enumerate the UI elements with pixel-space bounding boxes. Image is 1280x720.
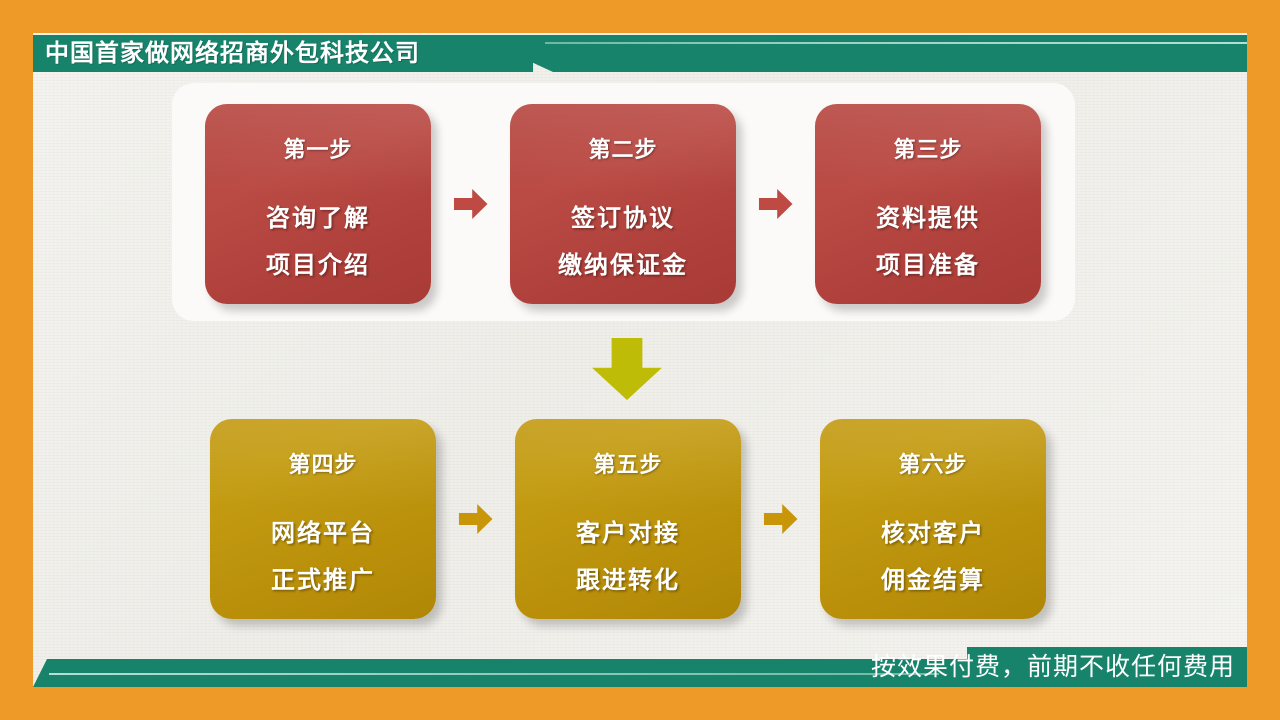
step-card-5-heading: 第五步	[593, 447, 662, 479]
arrow-right-icon-bottom-2	[741, 419, 820, 619]
step-card-1-body: 咨询了解 项目介绍	[266, 198, 370, 280]
step-card-4-body: 网络平台 正式推广	[271, 513, 375, 595]
step-card-5-line-2: 跟进转化	[576, 560, 680, 595]
step-card-6-body: 核对客户 佣金结算	[881, 513, 985, 595]
arrow-right-icon-bottom-1	[436, 419, 515, 619]
footer-tagline: 按效果付费，前期不收任何费用	[871, 650, 1235, 684]
arrow-right-glyph	[454, 189, 488, 219]
step-card-5-body: 客户对接 跟进转化	[576, 513, 680, 595]
step-card-1-line-2: 项目介绍	[266, 245, 370, 280]
step-card-4-line-1: 网络平台	[271, 513, 375, 548]
step-card-1-line-1: 咨询了解	[266, 198, 370, 233]
step-card-6[interactable]: 第六步 核对客户 佣金结算	[820, 419, 1046, 619]
arrow-right-icon-top-2	[736, 104, 815, 304]
step-card-1[interactable]: 第一步 咨询了解 项目介绍	[205, 104, 431, 304]
slide-canvas: 中国首家做网络招商外包科技公司 第一步 咨询了解 项目介绍 第二步 签订协议 缴…	[0, 0, 1280, 720]
arrow-down-icon-row-link	[592, 338, 662, 400]
step-card-5-line-1: 客户对接	[576, 513, 680, 548]
page-title: 中国首家做网络招商外包科技公司	[45, 36, 420, 72]
arrow-down-glyph	[592, 338, 662, 400]
step-card-2-heading: 第二步	[588, 132, 657, 164]
arrow-right-glyph	[459, 504, 493, 534]
flow-row-top: 第一步 咨询了解 项目介绍 第二步 签订协议 缴纳保证金 第三步 资料提供	[205, 104, 1041, 304]
step-card-4-heading: 第四步	[288, 447, 357, 479]
arrow-right-glyph	[764, 504, 798, 534]
step-card-2-line-2: 缴纳保证金	[558, 245, 688, 280]
header-banner-rule	[545, 42, 1247, 44]
step-card-3-body: 资料提供 项目准备	[876, 198, 980, 280]
step-card-3-heading: 第三步	[893, 132, 962, 164]
arrow-right-icon-top-1	[431, 104, 510, 304]
step-card-2-line-1: 签订协议	[571, 198, 675, 233]
step-card-4-line-2: 正式推广	[271, 560, 375, 595]
step-card-6-line-2: 佣金结算	[881, 560, 985, 595]
step-card-2-body: 签订协议 缴纳保证金	[558, 198, 688, 280]
step-card-1-heading: 第一步	[283, 132, 352, 164]
step-card-2[interactable]: 第二步 签订协议 缴纳保证金	[510, 104, 736, 304]
footer-banner-rule	[49, 673, 939, 675]
step-card-5[interactable]: 第五步 客户对接 跟进转化	[515, 419, 741, 619]
step-card-6-line-1: 核对客户	[881, 513, 985, 548]
flow-row-bottom: 第四步 网络平台 正式推广 第五步 客户对接 跟进转化 第六步 核对客户	[210, 419, 1046, 619]
step-card-6-heading: 第六步	[898, 447, 967, 479]
header-banner-angled-block	[473, 35, 1247, 72]
step-card-3-line-1: 资料提供	[876, 198, 980, 233]
step-card-3[interactable]: 第三步 资料提供 项目准备	[815, 104, 1041, 304]
step-card-3-line-2: 项目准备	[876, 245, 980, 280]
arrow-right-glyph	[759, 189, 793, 219]
step-card-4[interactable]: 第四步 网络平台 正式推广	[210, 419, 436, 619]
